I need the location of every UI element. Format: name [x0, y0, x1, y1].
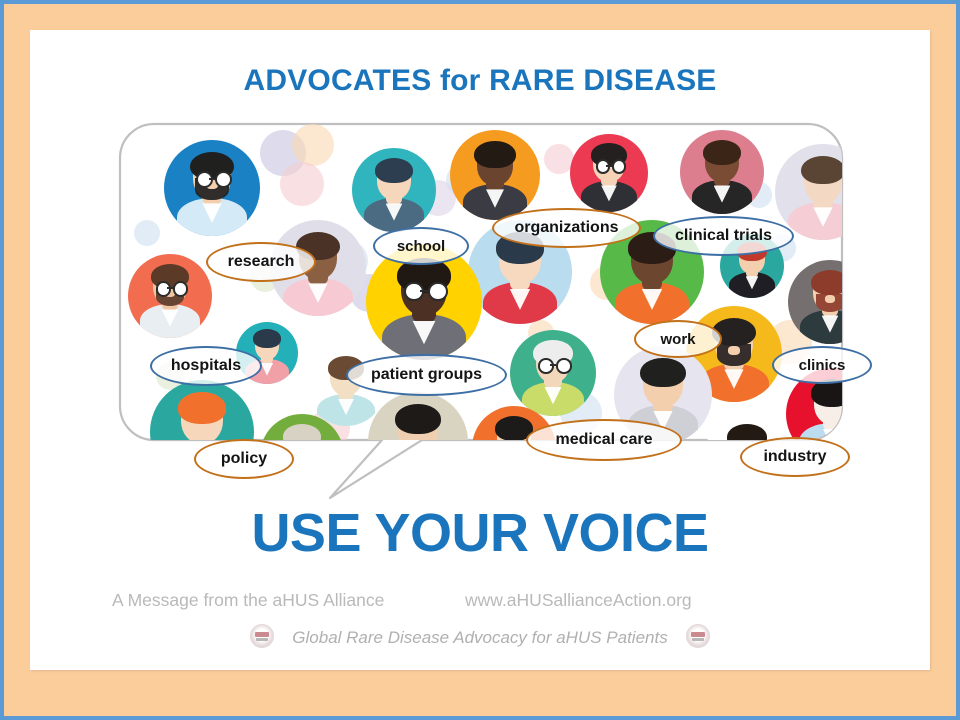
bokeh-circle — [280, 162, 324, 206]
avatar-hair — [640, 358, 685, 387]
avatar-hair — [395, 404, 441, 434]
glasses-bridge — [209, 178, 216, 181]
avatar-cluster — [120, 124, 842, 440]
speech-bubble: researchschoolorganizationsclinical tria… — [30, 110, 930, 500]
footer-row-bottom: Global Rare Disease Advocacy for aHUS Pa… — [30, 624, 930, 654]
slide-canvas: ADVOCATES for RARE DISEASE — [30, 30, 930, 670]
avatar-hair — [474, 141, 515, 168]
avatar-hair — [178, 392, 226, 423]
avatar-hair — [727, 424, 767, 440]
avatar-hair — [801, 156, 842, 185]
avatar-hair — [811, 270, 842, 295]
bokeh-circle — [134, 220, 160, 246]
avatar-businessman-orange — [450, 130, 540, 220]
tag-research[interactable]: research — [206, 242, 316, 282]
avatar-mouth-area — [825, 295, 835, 303]
ahus-alliance-logo-icon — [686, 624, 710, 648]
tag-hospitals[interactable]: hospitals — [150, 346, 262, 386]
tag-medical-care[interactable]: medical care — [526, 419, 682, 461]
avatar-mouth-area — [728, 346, 740, 355]
slide-frame: ADVOCATES for RARE DISEASE — [0, 0, 960, 720]
footer-tagline: Global Rare Disease Advocacy for aHUS Pa… — [292, 628, 667, 647]
avatar-teen-blue-hoodie — [352, 148, 436, 232]
glasses-icon — [428, 282, 448, 302]
avatar-elder-woman-glasses — [510, 330, 596, 416]
glasses-bridge — [550, 364, 556, 367]
tag-industry[interactable]: industry — [740, 437, 850, 477]
headline: USE YOUR VOICE — [30, 502, 930, 564]
glasses-bridge — [167, 287, 173, 290]
avatar-woman-teal-jacket — [704, 414, 790, 440]
avatar-man-glasses-red-bg — [570, 134, 648, 212]
tag-policy[interactable]: policy — [194, 439, 294, 479]
glasses-bridge — [420, 290, 428, 293]
avatar-hair — [703, 140, 742, 165]
footer-url[interactable]: www.aHUSallianceAction.org — [465, 590, 692, 611]
glasses-icon — [556, 358, 572, 374]
tag-clinical-trials[interactable]: clinical trials — [653, 216, 794, 256]
glasses-bridge — [606, 165, 611, 168]
avatar-hair — [283, 424, 322, 440]
footer-message: A Message from the aHUS Alliance — [112, 590, 384, 611]
ahus-alliance-logo-icon — [250, 624, 274, 648]
glasses-icon — [173, 281, 188, 296]
bokeh-circle — [292, 124, 334, 166]
tag-clinics[interactable]: clinics — [772, 346, 872, 384]
glasses-icon — [612, 159, 627, 174]
page-title: ADVOCATES for RARE DISEASE — [30, 64, 930, 98]
avatar-woman-curly-hair — [680, 130, 764, 214]
avatar-researcher-lab-coat — [164, 140, 260, 236]
avatar-hair — [375, 158, 414, 183]
avatar-hair — [253, 329, 282, 348]
footer: A Message from the aHUS Alliance www.aHU… — [30, 590, 930, 654]
tag-organizations[interactable]: organizations — [492, 208, 641, 248]
tag-work[interactable]: work — [634, 320, 722, 358]
avatar-man-red-beard — [128, 254, 212, 338]
footer-row-top: A Message from the aHUS Alliance www.aHU… — [30, 590, 930, 620]
tag-school[interactable]: school — [373, 227, 469, 265]
tag-patient-groups[interactable]: patient groups — [346, 354, 507, 396]
